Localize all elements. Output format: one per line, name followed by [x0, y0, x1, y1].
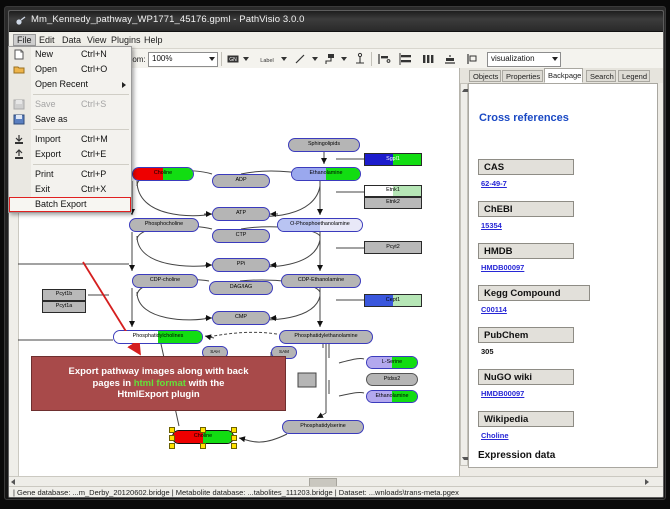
xref-header-pubchem: PubChem: [478, 327, 574, 343]
node-label: Ethanolamine: [376, 394, 409, 399]
chevron-down-icon-2: [552, 57, 558, 61]
tab-objects[interactable]: Objects: [469, 70, 501, 82]
menu-label: Open Recent: [35, 79, 88, 89]
xref-value-wikipedia[interactable]: Choline: [481, 431, 509, 440]
selection-handle-sw[interactable]: [169, 443, 175, 449]
node-label: O-Phosphoethanolamine: [290, 222, 350, 227]
callout-line1: Export pathway images along with back: [68, 366, 248, 377]
xref-header-cas: CAS: [478, 159, 574, 175]
cross-references-title: Cross references: [479, 112, 569, 124]
zoom-value: 100%: [152, 54, 172, 63]
selection-handle-e[interactable]: [231, 435, 237, 441]
file-menu-item-open[interactable]: Open Ctrl+O: [9, 62, 131, 77]
receptor-dropdown-icon[interactable]: [341, 57, 347, 61]
xref-value-nugo[interactable]: HMDB00097: [481, 389, 524, 398]
file-menu-item-save: Save Ctrl+S: [9, 97, 131, 112]
window-title: Mm_Kennedy_pathway_WP1771_45176.gpml - P…: [31, 14, 305, 25]
datanode-dropdown-icon[interactable]: [243, 57, 249, 61]
zoom-combobox[interactable]: 100%: [148, 52, 218, 67]
node-label: Ptdss2: [384, 377, 400, 382]
callout-text: Export pathway images along with back pa…: [62, 366, 254, 402]
selection-handle-n[interactable]: [200, 427, 206, 433]
node-sgpl1[interactable]: Sgpl1: [364, 153, 422, 166]
node-atp[interactable]: ATP: [212, 207, 270, 221]
xref-header-chebi: ChEBI: [478, 201, 574, 217]
tab-legend[interactable]: Legend: [618, 70, 650, 82]
node-ethanolamine[interactable]: Ethanolamine: [291, 167, 361, 181]
node-pcyt2[interactable]: Pcyt2: [364, 241, 422, 254]
xref-value-pubchem: 305: [481, 347, 494, 356]
pathvisio-icon: [15, 15, 27, 27]
node-label: Sgpl1: [386, 157, 400, 162]
file-menu-item-new[interactable]: New Ctrl+N: [9, 47, 131, 62]
node-label: Phosphocholine: [145, 222, 183, 227]
node-cmp[interactable]: CMP: [212, 311, 270, 325]
node-label: Phosphatidylcholines: [133, 334, 184, 339]
menu-shortcut: Ctrl+X: [81, 184, 106, 194]
align-stack-tool-button[interactable]: [399, 52, 413, 66]
window-titlebar: Mm_Kennedy_pathway_WP1771_45176.gpml - P…: [9, 11, 663, 32]
visualization-value: visualization: [491, 54, 535, 63]
menu-data[interactable]: Data: [58, 34, 85, 46]
svg-text:Label: Label: [260, 58, 273, 64]
file-menu-item-exit[interactable]: Exit Ctrl+X: [9, 182, 131, 197]
file-menu-separator-2: [33, 129, 129, 130]
menu-label: New: [35, 49, 53, 59]
menu-shortcut: Ctrl+N: [81, 49, 107, 59]
node-ptdss2[interactable]: Ptdss2: [366, 373, 418, 386]
label-tool-button[interactable]: Label: [256, 52, 278, 66]
xref-value-cas[interactable]: 62-49-7: [481, 179, 507, 188]
xref-value-kegg[interactable]: C00114: [481, 305, 507, 314]
node-label: Etnk2: [386, 200, 400, 205]
selection-handle-nw[interactable]: [169, 427, 175, 433]
menu-shortcut: Ctrl+E: [81, 149, 106, 159]
node-etnk2[interactable]: Etnk2: [364, 197, 422, 209]
node-label: SAM: [279, 350, 289, 355]
datanode-tool-button[interactable]: GN: [226, 52, 240, 66]
node-label: SAH: [210, 350, 219, 355]
toolbar-separator: [221, 52, 222, 66]
node-phosphatidylethanolamine[interactable]: Phosphatidylethanolamine: [279, 330, 373, 344]
node-label: CTP: [236, 233, 247, 238]
node-ppi[interactable]: PPi: [212, 258, 270, 272]
visualization-combobox[interactable]: visualization: [487, 52, 561, 67]
xref-value-chebi[interactable]: 15354: [481, 221, 502, 230]
import-icon: [13, 134, 25, 145]
group-tool-button[interactable]: [465, 52, 479, 66]
node-adp[interactable]: ADP: [212, 174, 270, 188]
menu-label: Export: [35, 149, 61, 159]
node-label: Ethanolamine: [310, 171, 343, 176]
node-label: ADP: [235, 178, 246, 183]
xref-header-hmdb: HMDB: [478, 243, 574, 259]
node-label: Pcyt2: [386, 245, 399, 250]
line-tool-button[interactable]: [293, 52, 307, 66]
node-l-serine[interactable]: L-Serine: [366, 356, 418, 369]
file-menu-item-batch-export[interactable]: Batch Export: [9, 197, 131, 212]
node-label: Choline: [194, 434, 212, 439]
menu-shortcut: Ctrl+O: [81, 64, 107, 74]
chevron-down-icon: [209, 57, 215, 61]
menu-label: Open: [35, 64, 57, 74]
tab-search[interactable]: Search: [586, 70, 616, 82]
selection-handle-s[interactable]: [200, 443, 206, 449]
desktop-background: Mm_Kennedy_pathway_WP1771_45176.gpml - P…: [0, 0, 670, 509]
node-label: CMP: [235, 315, 247, 320]
xref-header-kegg: Kegg Compound: [478, 285, 590, 301]
selection-handle-se[interactable]: [231, 443, 237, 449]
menu-label: Save as: [35, 114, 68, 124]
node-label: Pcyt1a: [56, 304, 72, 309]
node-label: DAG/IAG: [230, 285, 252, 290]
callout-line3: HtmlExport plugin: [117, 389, 199, 400]
node-pcyt1b[interactable]: Pcyt1b: [42, 289, 86, 301]
expression-data-title: Expression data: [478, 450, 555, 461]
statusbar-text: | Gene database: ...m_Derby_20120602.bri…: [13, 488, 459, 497]
line-dropdown-icon[interactable]: [312, 57, 318, 61]
menu-label: Save: [35, 99, 56, 109]
node-label: L-Serine: [382, 360, 402, 365]
xref-header-nugo: NuGO wiki: [478, 369, 574, 385]
distribute-tool-button[interactable]: [421, 52, 435, 66]
node-cept1[interactable]: Cept1: [364, 294, 422, 307]
node-choline[interactable]: Choline: [132, 167, 194, 181]
file-menu-item-export[interactable]: Export Ctrl+E: [9, 147, 131, 162]
file-menu-item-save-as[interactable]: Save as: [9, 112, 131, 127]
file-menu-separator-3: [33, 164, 129, 165]
menu-shortcut: Ctrl+M: [81, 134, 108, 144]
menu-edit[interactable]: Edit: [35, 34, 59, 46]
file-menu-item-import[interactable]: Import Ctrl+M: [9, 132, 131, 147]
selection-handle-ne[interactable]: [231, 427, 237, 433]
node-label: Phosphatidylserine: [300, 424, 346, 429]
node-o-phosphoethanolamine[interactable]: O-Phosphoethanolamine: [277, 218, 363, 232]
node-phosphatidylcholines[interactable]: Phosphatidylcholines: [113, 330, 203, 344]
node-dag-iag[interactable]: DAG/IAG: [209, 281, 273, 295]
node-label: Choline: [154, 171, 172, 176]
menu-label: Import: [35, 134, 61, 144]
toolbar-separator-2: [371, 52, 372, 66]
menu-label: Batch Export: [35, 199, 87, 209]
node-cdp-choline[interactable]: CDP-choline: [132, 274, 198, 288]
scroll-left-icon[interactable]: [11, 479, 15, 485]
node-label: CDP-choline: [150, 278, 180, 283]
annotation-callout: Export pathway images along with back pa…: [31, 356, 286, 411]
node-pcyt1a[interactable]: Pcyt1a: [42, 301, 86, 313]
node-label: ATP: [236, 211, 246, 216]
xref-header-wikipedia: Wikipedia: [478, 411, 574, 427]
common-width-tool-button[interactable]: [443, 52, 457, 66]
menu-label: Exit: [35, 184, 50, 194]
label-dropdown-icon[interactable]: [281, 57, 287, 61]
selection-handle-w[interactable]: [169, 435, 175, 441]
backpage-content: Cross references CAS 62-49-7 ChEBI 15354…: [468, 83, 658, 468]
node-phosphatidylserine[interactable]: Phosphatidylserine: [282, 420, 364, 434]
menu-plugins[interactable]: Plugins: [107, 34, 145, 46]
node-phosphocholine[interactable]: Phosphocholine: [129, 218, 199, 232]
side-panel: Objects Properties Backpage Search Legen…: [460, 68, 663, 476]
anchor-tool-button[interactable]: [353, 52, 367, 66]
node-cdp-ethanolamine[interactable]: CDP-Ethanolamine: [281, 274, 361, 288]
file-menu-separator-1: [33, 94, 129, 95]
menu-file[interactable]: File: [13, 34, 36, 46]
node-ethanolamine-2[interactable]: Ethanolamine: [366, 390, 418, 403]
file-menu-popup[interactable]: New Ctrl+N Open Ctrl+O Open Recent Save …: [8, 46, 132, 213]
statusbar: | Gene database: ...m_Derby_20120602.bri…: [9, 486, 663, 498]
xref-value-hmdb[interactable]: HMDB00097: [481, 263, 524, 272]
callout-line2-b: with the: [186, 378, 225, 389]
node-label: Phosphatidylethanolamine: [294, 334, 357, 339]
svg-text:GN: GN: [229, 57, 237, 63]
menu-shortcut: Ctrl+P: [81, 169, 106, 179]
receptor-tool-button[interactable]: [323, 52, 337, 66]
side-panel-tabstrip: Objects Properties Backpage Search Legen…: [460, 68, 663, 83]
save-as-icon: [13, 114, 25, 125]
menu-label: Print: [35, 169, 54, 179]
node-ctp[interactable]: CTP: [212, 229, 270, 243]
file-menu-item-open-recent[interactable]: Open Recent: [9, 77, 131, 92]
side-panel-scrollbar[interactable]: [460, 83, 468, 466]
align-left-tool-button[interactable]: [377, 52, 391, 66]
save-icon: [13, 99, 25, 110]
node-sphingolipids[interactable]: Sphingolipids: [288, 138, 360, 152]
node-label: Cept1: [386, 298, 400, 303]
submenu-arrow-icon: [122, 82, 126, 88]
menu-help[interactable]: Help: [140, 34, 167, 46]
node-etnk1[interactable]: Etnk1: [364, 185, 422, 197]
open-folder-icon: [13, 64, 25, 75]
new-file-icon: [13, 49, 25, 60]
callout-line2-a: pages in: [93, 378, 134, 389]
file-menu-item-print[interactable]: Print Ctrl+P: [9, 167, 131, 182]
callout-line2-highlight: html format: [134, 378, 186, 389]
scroll-right-icon[interactable]: [645, 479, 649, 485]
node-label: Pcyt1b: [56, 292, 72, 297]
tab-properties[interactable]: Properties: [502, 70, 543, 82]
export-icon: [13, 149, 25, 160]
tab-backpage[interactable]: Backpage: [544, 68, 583, 83]
node-label: Sphingolipids: [308, 142, 340, 147]
menu-shortcut: Ctrl+S: [81, 99, 106, 109]
node-label: PPi: [237, 262, 245, 267]
node-label: CDP-Ethanolamine: [298, 278, 344, 283]
node-label: Etnk1: [386, 188, 400, 193]
